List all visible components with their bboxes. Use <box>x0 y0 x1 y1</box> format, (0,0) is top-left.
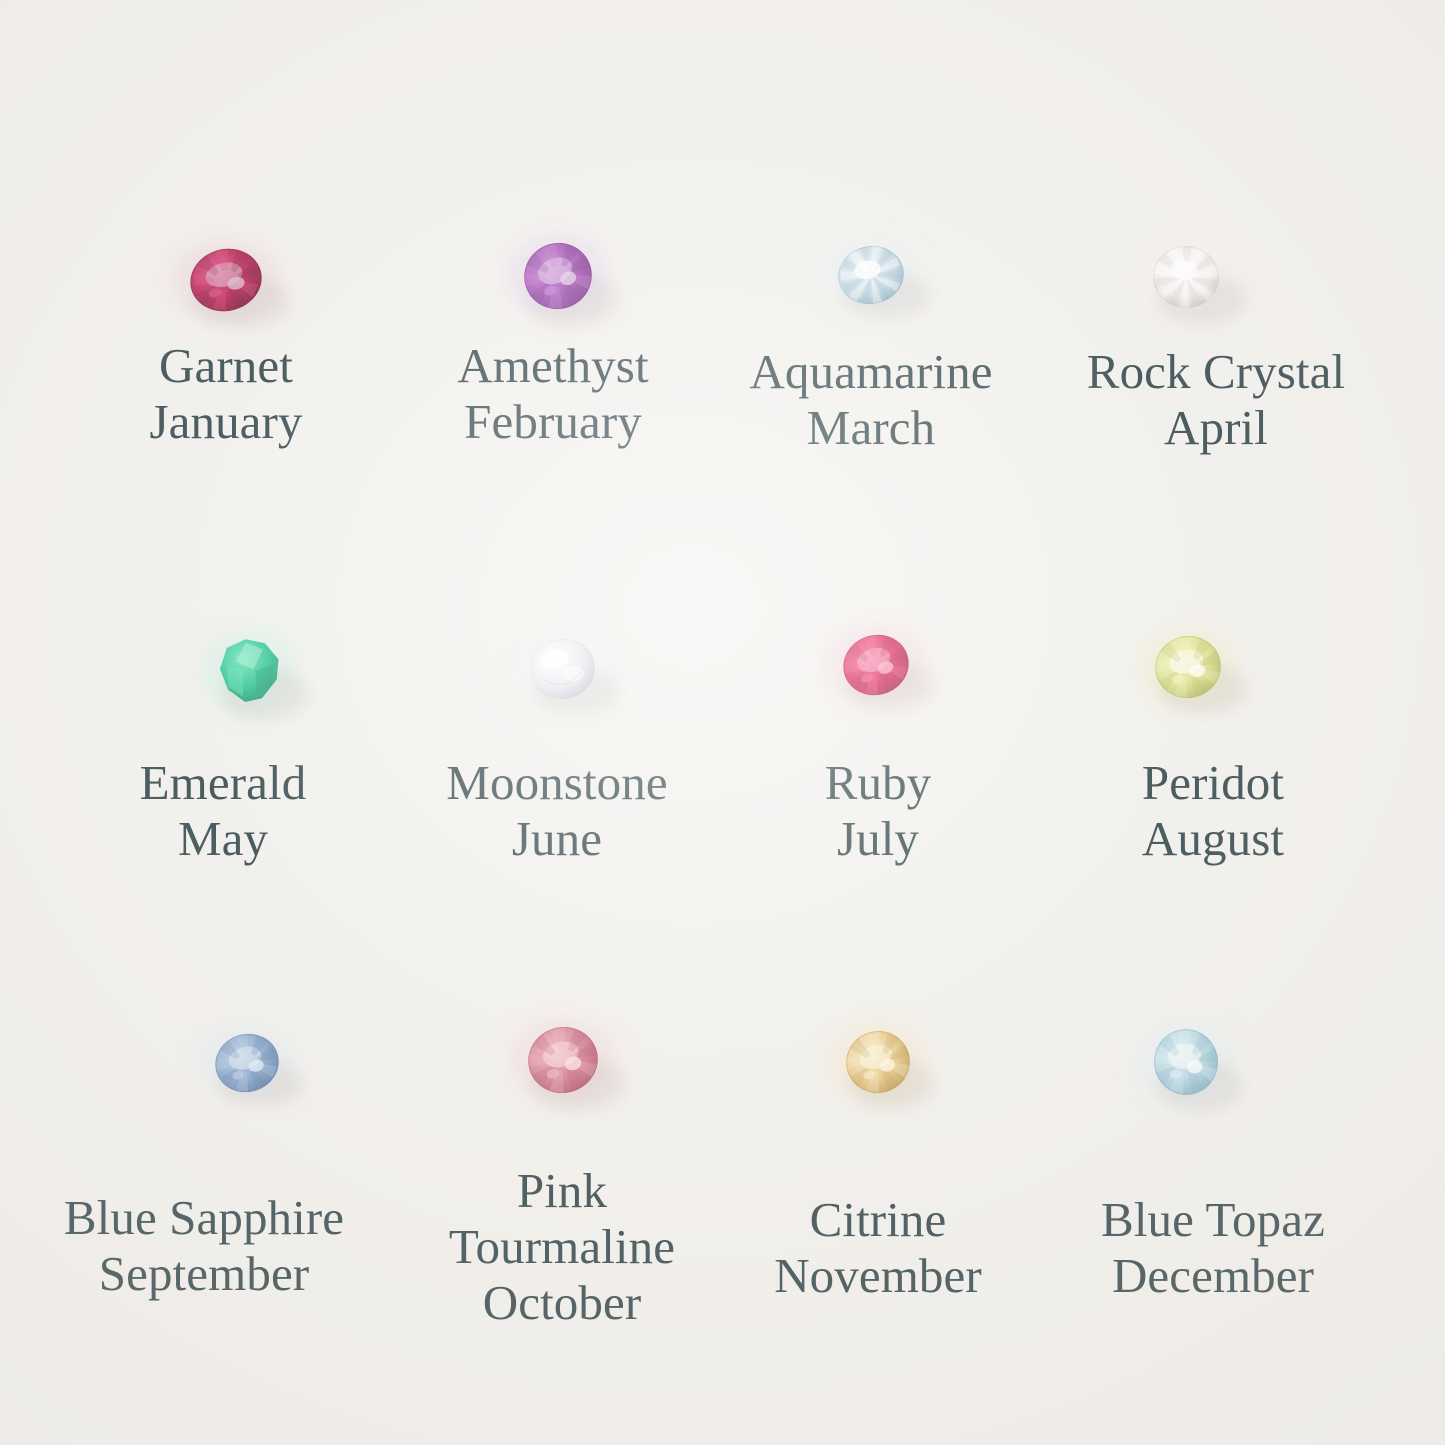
caption-blue-sapphire: Blue Sapphire September <box>4 1190 404 1302</box>
caption-moonstone: Moonstone June <box>392 755 722 867</box>
caption-blue-topaz: Blue Topaz December <box>1038 1192 1388 1304</box>
gemstone-blue-topaz <box>1154 1029 1218 1095</box>
gemstone-blue-sapphire <box>215 1034 279 1092</box>
gemstone-citrine <box>846 1031 910 1093</box>
birthstone-chart: Garnet JanuaryAmethyst FebruaryAquamarin… <box>0 0 1445 1445</box>
gemstone-aquamarine <box>838 246 904 304</box>
caption-ruby: Ruby July <box>713 755 1043 867</box>
gemstone-rock-crystal <box>1153 246 1219 308</box>
gemstone-amethyst <box>524 243 592 309</box>
gemstone-pink-tourmaline <box>528 1027 598 1093</box>
caption-citrine: Citrine November <box>708 1192 1048 1304</box>
caption-peridot: Peridot August <box>1048 755 1378 867</box>
gemstone-garnet <box>190 249 262 311</box>
gemstone-emerald <box>217 637 283 703</box>
caption-emerald: Emerald May <box>58 755 388 867</box>
caption-rock-crystal: Rock Crystal April <box>1041 344 1391 456</box>
caption-aquamarine: Aquamarine March <box>701 344 1041 456</box>
caption-amethyst: Amethyst February <box>388 338 718 450</box>
gemstone-moonstone <box>531 639 595 699</box>
caption-garnet: Garnet January <box>61 338 391 450</box>
gemstone-ruby <box>843 635 909 695</box>
gemstone-peridot <box>1155 636 1221 698</box>
caption-pink-tourmaline: Pink Tourmaline October <box>397 1163 727 1331</box>
